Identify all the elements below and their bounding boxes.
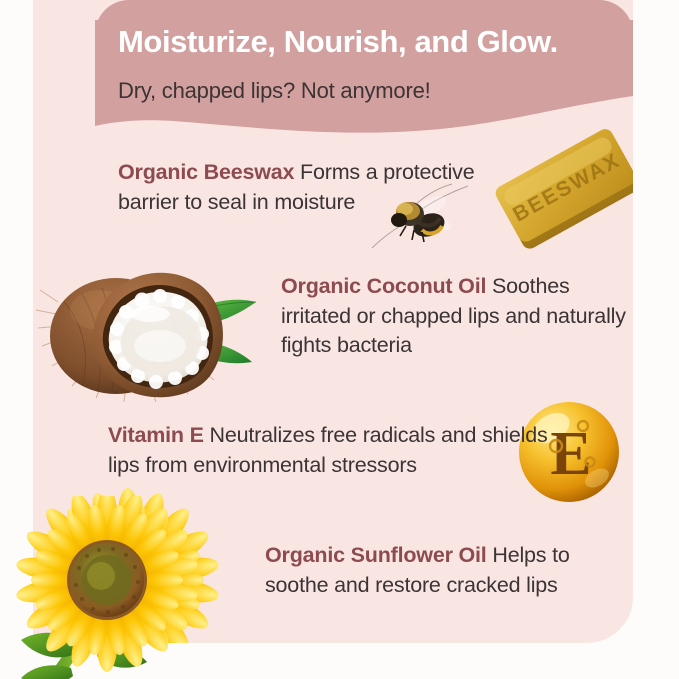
ingredient-benefits-infographic: BEESWAX (0, 0, 679, 679)
benefit-vitamin-e: Vitamin E Neutralizes free radicals and … (108, 421, 568, 480)
benefit-coconut: Organic Coconut Oil Soothes irritated or… (281, 272, 633, 361)
page-title: Moisturize, Nourish, and Glow. (118, 24, 558, 60)
benefit-sunflower: Organic Sunflower Oil Helps to soothe an… (265, 541, 625, 600)
benefit-coconut-title: Organic Coconut Oil (281, 274, 486, 298)
page-subtitle: Dry, chapped lips? Not anymore! (118, 78, 431, 104)
sunflower-overflow-image (0, 496, 215, 679)
benefit-sunflower-title: Organic Sunflower Oil (265, 543, 487, 567)
benefit-beeswax-title: Organic Beeswax (118, 160, 294, 184)
benefit-beeswax: Organic Beeswax Forms a protective barri… (118, 158, 538, 217)
coconut-image (33, 254, 258, 406)
benefit-vitamin-e-title: Vitamin E (108, 423, 204, 447)
